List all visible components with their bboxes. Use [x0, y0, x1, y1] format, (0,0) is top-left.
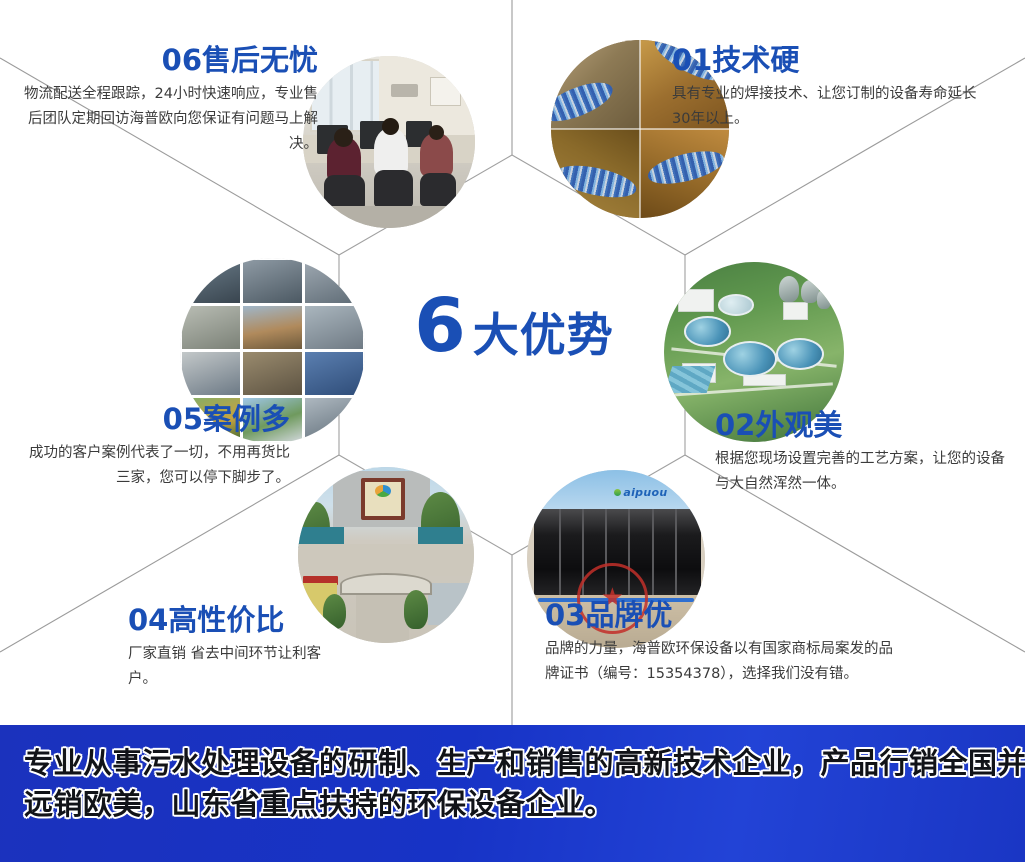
feature-02: 02外观美 根据您现场设置完善的工艺方案，让您的设备与大自然浑然一体。 — [715, 410, 1015, 497]
feature-03: 03品牌优 品牌的力量，海普欧环保设备以有国家商标局案发的品牌证书（编号：153… — [545, 600, 897, 687]
advantages-diagram: 6 大优势 — [0, 0, 1025, 725]
feature-03-desc: 品牌的力量，海普欧环保设备以有国家商标局案发的品牌证书（编号：15354378）… — [545, 637, 897, 687]
feature-05: 05案例多 成功的客户案例代表了一切，不用再货比三家，您可以停下脚步了。 — [18, 404, 290, 491]
banner-line-2: 远销欧美，山东省重点扶持的环保设备企业。 — [24, 784, 984, 825]
feature-02-title: 02外观美 — [715, 410, 1015, 442]
company-banner: 专业从事污水处理设备的研制、生产和销售的高新技术企业，产品行销全国并 远销欧美，… — [0, 725, 1025, 862]
center-number: 6 — [414, 289, 464, 363]
feature-06-title: 06售后无忧 — [18, 45, 318, 77]
feature-01-desc: 具有专业的焊接技术、让您订制的设备寿命延长30年以上。 — [672, 82, 992, 132]
feature-03-title: 03品牌优 — [545, 600, 897, 632]
office-photo — [303, 56, 475, 228]
feature-01: 01技术硬 具有专业的焊接技术、让您订制的设备寿命延长30年以上。 — [672, 45, 992, 132]
feature-05-title: 05案例多 — [18, 404, 290, 436]
banner-line-1: 专业从事污水处理设备的研制、生产和销售的高新技术企业，产品行销全国并 — [24, 743, 984, 784]
haipuou-logo: aipuou — [605, 482, 676, 502]
feature-06-desc: 物流配送全程跟踪，24小时快速响应，专业售后团队定期回访海普欧向您保证有问题马上… — [18, 82, 318, 157]
feature-04-title: 04高性价比 — [128, 605, 338, 637]
banner-text: 专业从事污水处理设备的研制、生产和销售的高新技术企业，产品行销全国并 远销欧美，… — [24, 743, 984, 825]
feature-04: 04高性价比 厂家直销 省去中间环节让利客户。 — [128, 605, 338, 692]
feature-02-desc: 根据您现场设置完善的工艺方案，让您的设备与大自然浑然一体。 — [715, 447, 1015, 497]
feature-01-title: 01技术硬 — [672, 45, 992, 77]
brand-logo-text: aipuou — [623, 486, 667, 499]
feature-06: 06售后无忧 物流配送全程跟踪，24小时快速响应，专业售后团队定期回访海普欧向您… — [18, 45, 318, 157]
feature-04-desc: 厂家直销 省去中间环节让利客户。 — [128, 642, 338, 692]
center-title: 6 大优势 — [389, 289, 639, 379]
center-text: 大优势 — [473, 312, 614, 358]
feature-05-desc: 成功的客户案例代表了一切，不用再货比三家，您可以停下脚步了。 — [18, 441, 290, 491]
